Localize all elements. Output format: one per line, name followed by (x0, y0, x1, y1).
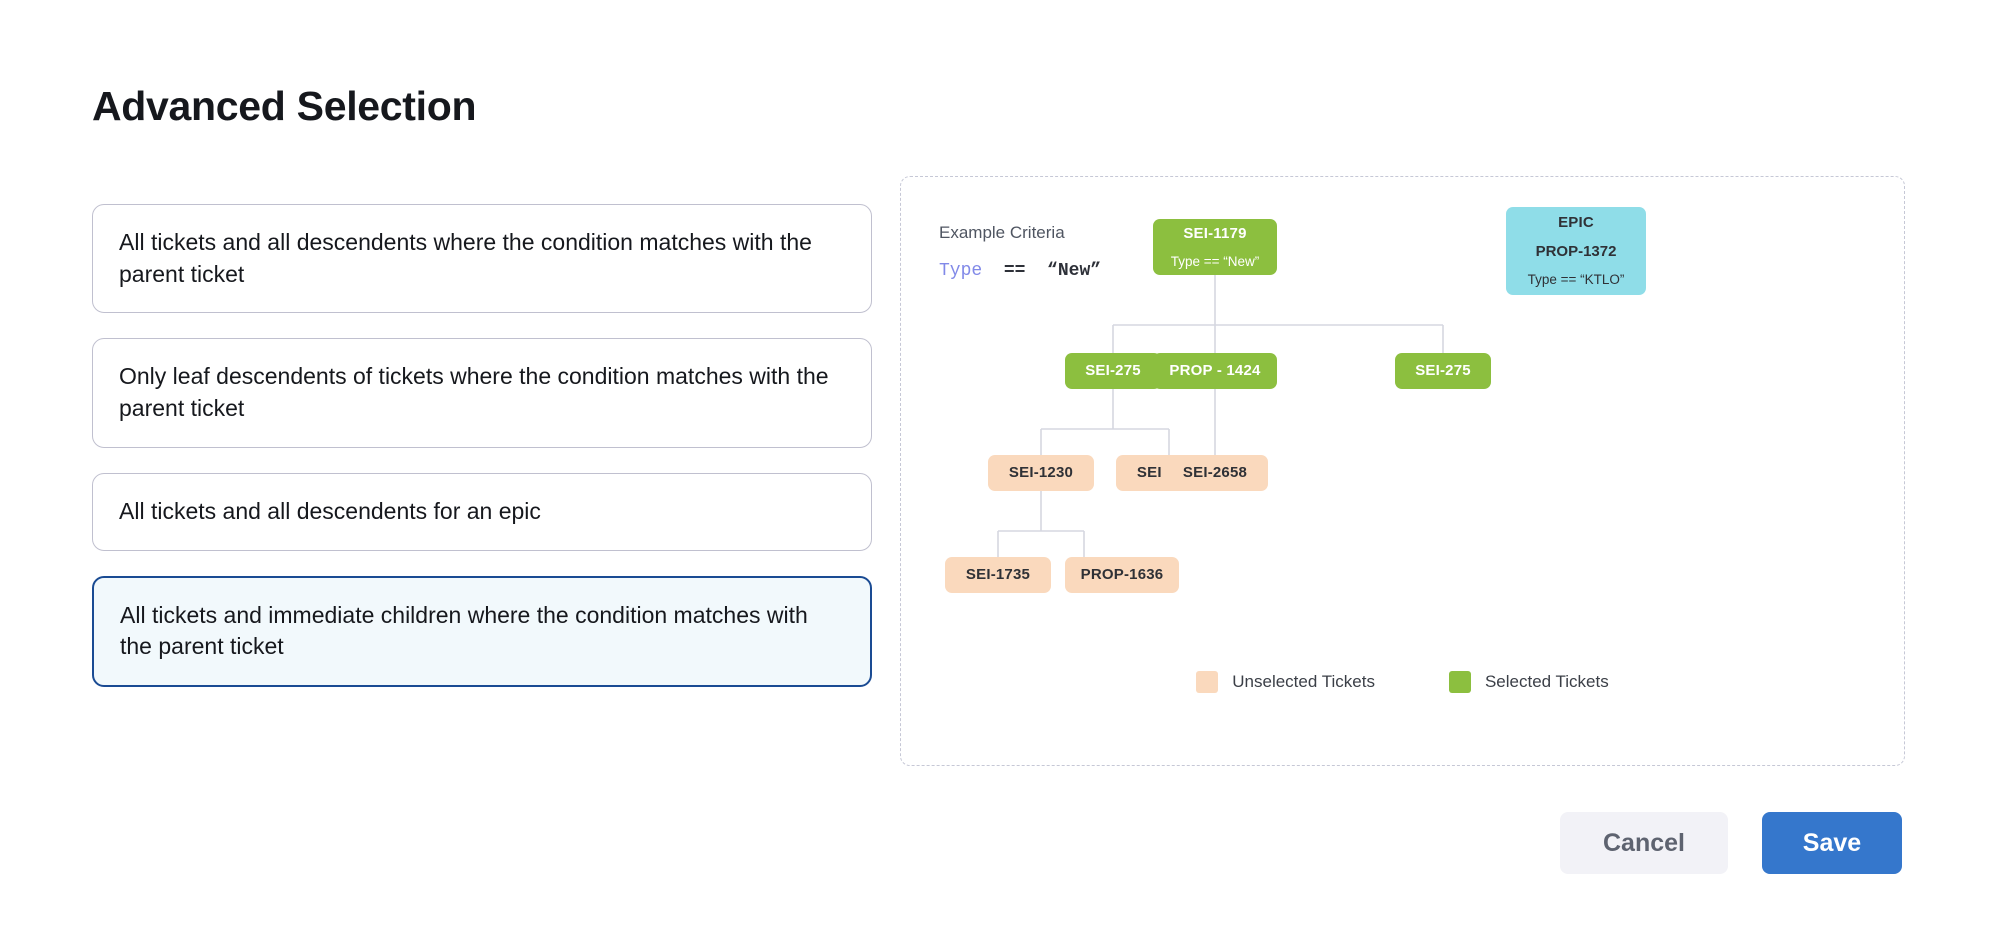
legend-swatch-selected (1449, 671, 1471, 693)
tree-node-epic-prop-1372[interactable]: EPIC PROP-1372 Type == “KTLO” (1506, 207, 1646, 295)
option-label: Only leaf descendents of tickets where t… (119, 361, 845, 424)
node-title: PROP-1636 (1081, 564, 1164, 586)
node-title: SEI-1179 (1183, 223, 1246, 245)
tree-node-sei-275-a[interactable]: SEI-275 (1065, 353, 1161, 389)
node-title: PROP - 1424 (1169, 360, 1260, 382)
cancel-button[interactable]: Cancel (1560, 812, 1728, 874)
tree-node-sei-275-b[interactable]: SEI-275 (1395, 353, 1491, 389)
legend-swatch-unselected (1196, 671, 1218, 693)
node-title: SEI-275 (1085, 360, 1141, 382)
legend-label: Unselected Tickets (1232, 672, 1375, 692)
option-card-all-descendents-condition[interactable]: All tickets and all descendents where th… (92, 204, 872, 313)
page-title: Advanced Selection (92, 83, 476, 130)
legend-label: Selected Tickets (1485, 672, 1609, 692)
legend-item-selected: Selected Tickets (1449, 671, 1609, 693)
node-title: SEI-1230 (1009, 462, 1073, 484)
tree-node-sei-1230[interactable]: SEI-1230 (988, 455, 1094, 491)
option-card-leaf-descendents-condition[interactable]: Only leaf descendents of tickets where t… (92, 338, 872, 447)
node-title: SEI-1735 (966, 564, 1030, 586)
option-label: All tickets and all descendents for an e… (119, 496, 541, 528)
selection-options-list: All tickets and all descendents where th… (92, 204, 872, 687)
node-title: SEI-275 (1415, 360, 1471, 382)
tree-node-sei-1735-b[interactable]: SEI-1735 (945, 557, 1051, 593)
diagram-legend: Unselected Tickets Selected Tickets (901, 671, 1904, 693)
node-title: SEI-2658 (1183, 462, 1247, 484)
tree-node-prop-1424[interactable]: PROP - 1424 (1153, 353, 1277, 389)
advanced-selection-dialog: Advanced Selection All tickets and all d… (0, 0, 1994, 934)
tree-node-sei-1179[interactable]: SEI-1179 Type == “New” (1153, 219, 1277, 275)
example-diagram-panel: Example Criteria Type == “New” (900, 176, 1905, 766)
tree-node-prop-1636[interactable]: PROP-1636 (1065, 557, 1179, 593)
save-button[interactable]: Save (1762, 812, 1902, 874)
node-title: EPIC (1558, 212, 1594, 234)
option-label: All tickets and immediate children where… (120, 600, 844, 663)
node-subtitle: Type == “KTLO” (1528, 270, 1625, 290)
option-card-immediate-children-condition[interactable]: All tickets and immediate children where… (92, 576, 872, 687)
tree-node-sei-2658[interactable]: SEI-2658 (1162, 455, 1268, 491)
option-card-all-descendents-epic[interactable]: All tickets and all descendents for an e… (92, 473, 872, 551)
option-label: All tickets and all descendents where th… (119, 227, 845, 290)
node-title-secondary: PROP-1372 (1536, 241, 1617, 263)
node-subtitle: Type == “New” (1171, 252, 1260, 272)
dialog-footer: Cancel Save (1560, 812, 1902, 874)
legend-item-unselected: Unselected Tickets (1196, 671, 1375, 693)
